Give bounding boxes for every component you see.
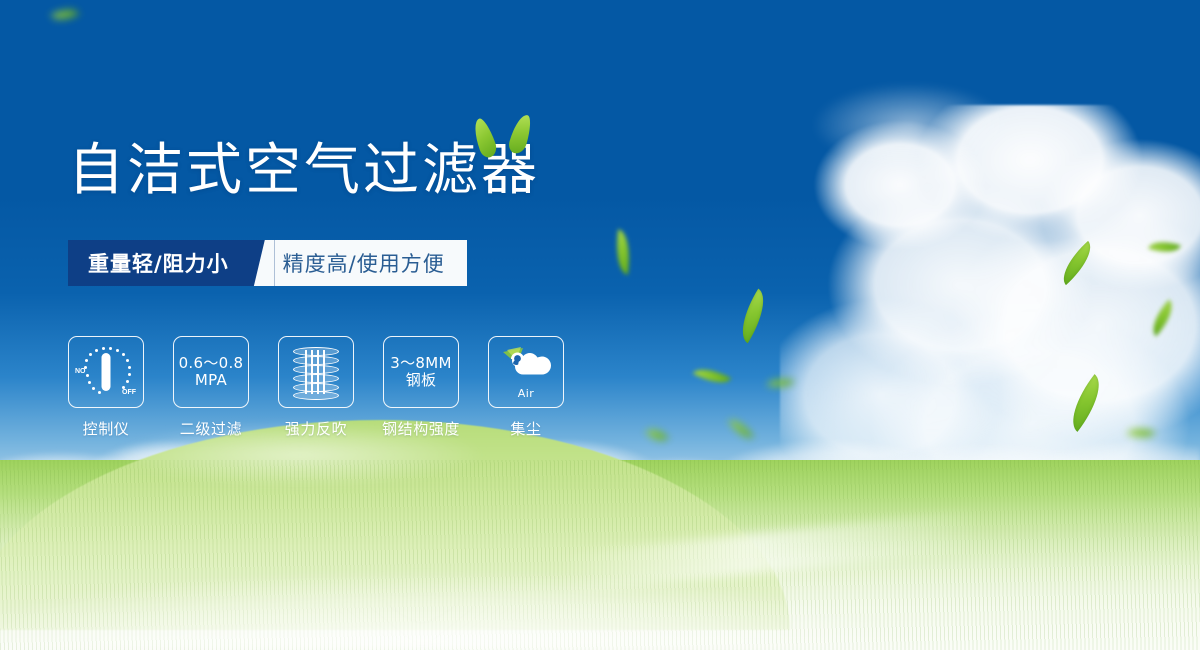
- tagline-primary: 重量轻/阻力小: [68, 240, 249, 286]
- feature-icon-box: Air: [488, 336, 564, 408]
- gauge-needle-icon: [102, 353, 111, 391]
- banner-content: 自洁式空气过滤器 重量轻/阻力小 精度高/使用方便 NO OFF: [0, 0, 1200, 650]
- feature-icon-text-line1: 3～8MM: [390, 355, 451, 372]
- tagline-divider: [249, 240, 275, 286]
- feature-icon-box: NO OFF: [68, 336, 144, 408]
- air-label: Air: [518, 387, 535, 400]
- feature-icon-text-line2: 钢板: [406, 372, 437, 389]
- feature-icon-text-line2: MPA: [195, 372, 227, 389]
- feature-item-backblow[interactable]: 强力反吹: [278, 336, 354, 439]
- dust-cloud-icon: [497, 346, 555, 386]
- feature-item-steel[interactable]: 3～8MM 钢板 钢结构强度: [383, 336, 459, 439]
- feature-item-pressure[interactable]: 0.6～0.8 MPA 二级过滤: [173, 336, 249, 439]
- feature-label: 钢结构强度: [382, 418, 460, 439]
- feature-icon-box: [278, 336, 354, 408]
- tagline-secondary: 精度高/使用方便: [275, 240, 467, 286]
- product-banner: 自洁式空气过滤器 重量轻/阻力小 精度高/使用方便 NO OFF: [0, 0, 1200, 650]
- feature-label: 集尘: [510, 418, 541, 439]
- feature-item-controller[interactable]: NO OFF: [68, 336, 144, 439]
- feature-label: 控制仪: [83, 418, 130, 439]
- feature-icon-text-line1: 0.6～0.8: [179, 355, 244, 372]
- tagline-bar: 重量轻/阻力小 精度高/使用方便: [68, 240, 467, 286]
- sprout-leaf-right-icon: [507, 112, 534, 155]
- filter-stack-icon: [293, 347, 339, 397]
- feature-item-dust[interactable]: Air 集尘: [488, 336, 564, 439]
- gauge-icon: NO OFF: [75, 346, 137, 398]
- feature-icon-box: 3～8MM 钢板: [383, 336, 459, 408]
- sprout-leaves-icon: [472, 112, 542, 160]
- feature-list: NO OFF: [68, 336, 564, 439]
- cloud-icon: [497, 346, 555, 386]
- page-title: 自洁式空气过滤器: [68, 143, 540, 199]
- feature-label: 强力反吹: [285, 418, 347, 439]
- gauge-off-label: OFF: [122, 389, 136, 396]
- feature-label: 二级过滤: [180, 418, 242, 439]
- gauge-on-label: NO: [75, 368, 86, 375]
- sprout-leaf-left-icon: [470, 116, 500, 159]
- feature-icon-box: 0.6～0.8 MPA: [173, 336, 249, 408]
